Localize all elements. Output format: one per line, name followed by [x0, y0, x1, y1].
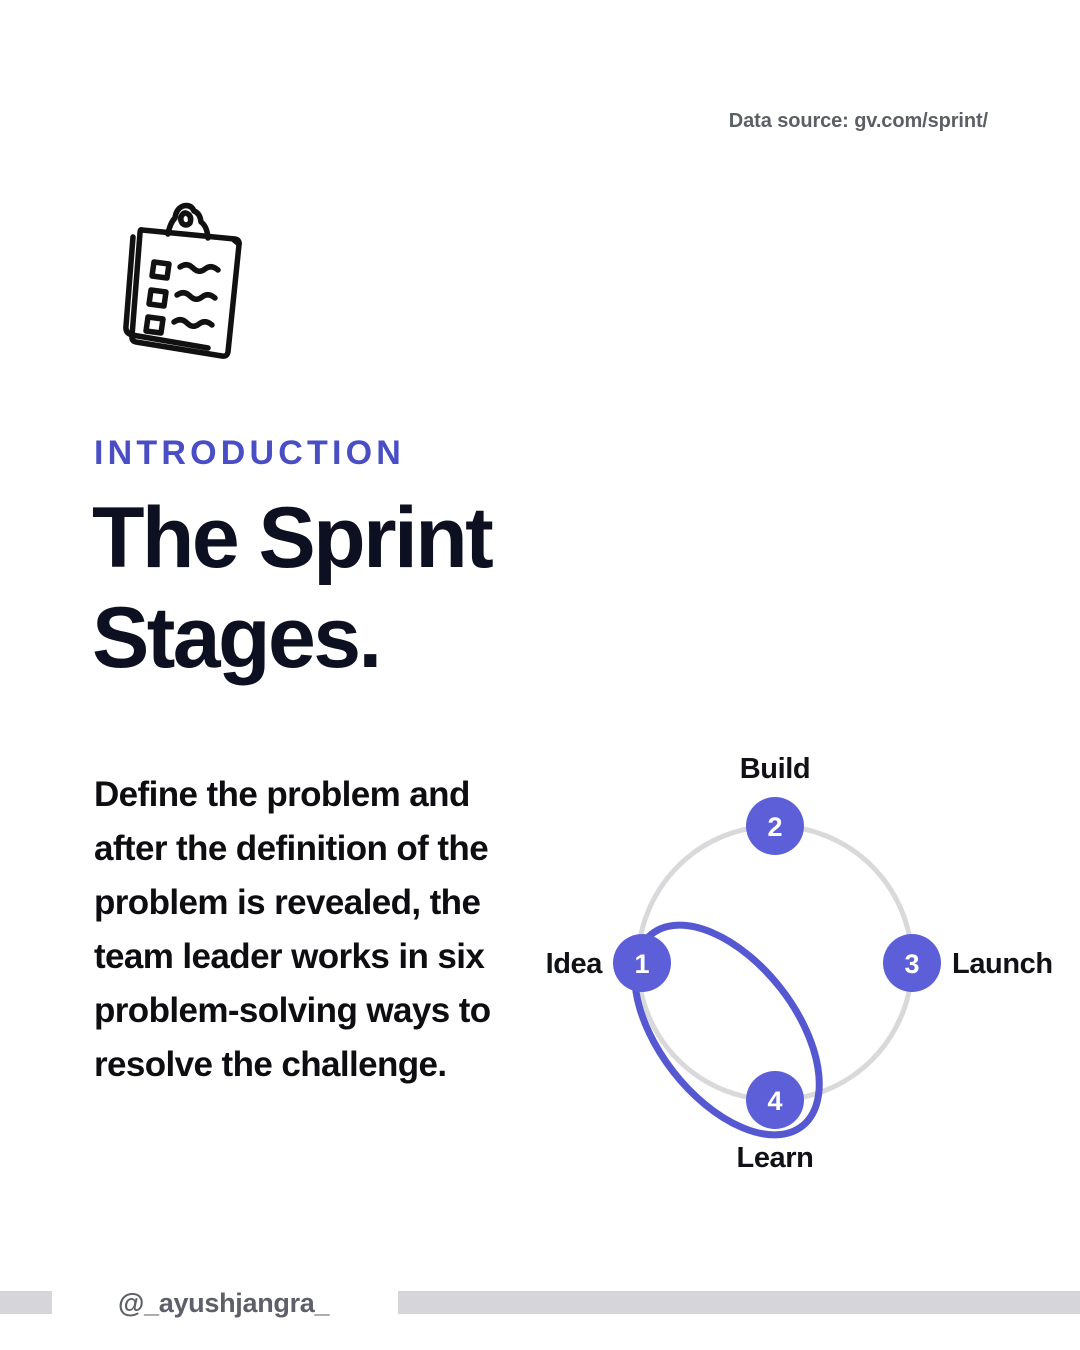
diagram-node-idea[interactable]: 1 Idea [546, 934, 671, 992]
node-label-idea: Idea [546, 948, 604, 980]
node-number-3: 3 [904, 949, 919, 979]
title-line-2: Stages. [92, 590, 380, 686]
author-handle: @_ayushjangra_ [118, 1288, 329, 1319]
page-title: The Sprint Stages. [92, 488, 612, 688]
sprint-cycle-diagram: 2 Build 1 Idea 3 Launch 4 Learn [520, 740, 1080, 1200]
body-paragraph: Define the problem and after the definit… [94, 768, 544, 1092]
data-source-label: Data source: gv.com/sprint/ [729, 110, 988, 133]
footer-bar-right [398, 1291, 1080, 1314]
section-eyebrow: INTRODUCTION [94, 434, 405, 473]
node-number-4: 4 [767, 1086, 782, 1116]
accent-loop-path [598, 892, 855, 1168]
footer-bar-left [0, 1291, 52, 1314]
node-number-2: 2 [767, 812, 782, 842]
node-label-build: Build [740, 753, 811, 785]
poster-canvas: Data source: gv.com/sprint/ [0, 0, 1080, 1350]
diagram-node-build[interactable]: 2 Build [740, 753, 811, 855]
node-label-launch: Launch [952, 948, 1053, 980]
node-number-1: 1 [634, 949, 649, 979]
node-label-learn: Learn [737, 1142, 814, 1174]
cycle-ring [638, 826, 912, 1100]
clipboard-checklist-icon [112, 196, 262, 366]
title-line-1: The Sprint [92, 490, 491, 586]
diagram-node-launch[interactable]: 3 Launch [883, 934, 1053, 992]
